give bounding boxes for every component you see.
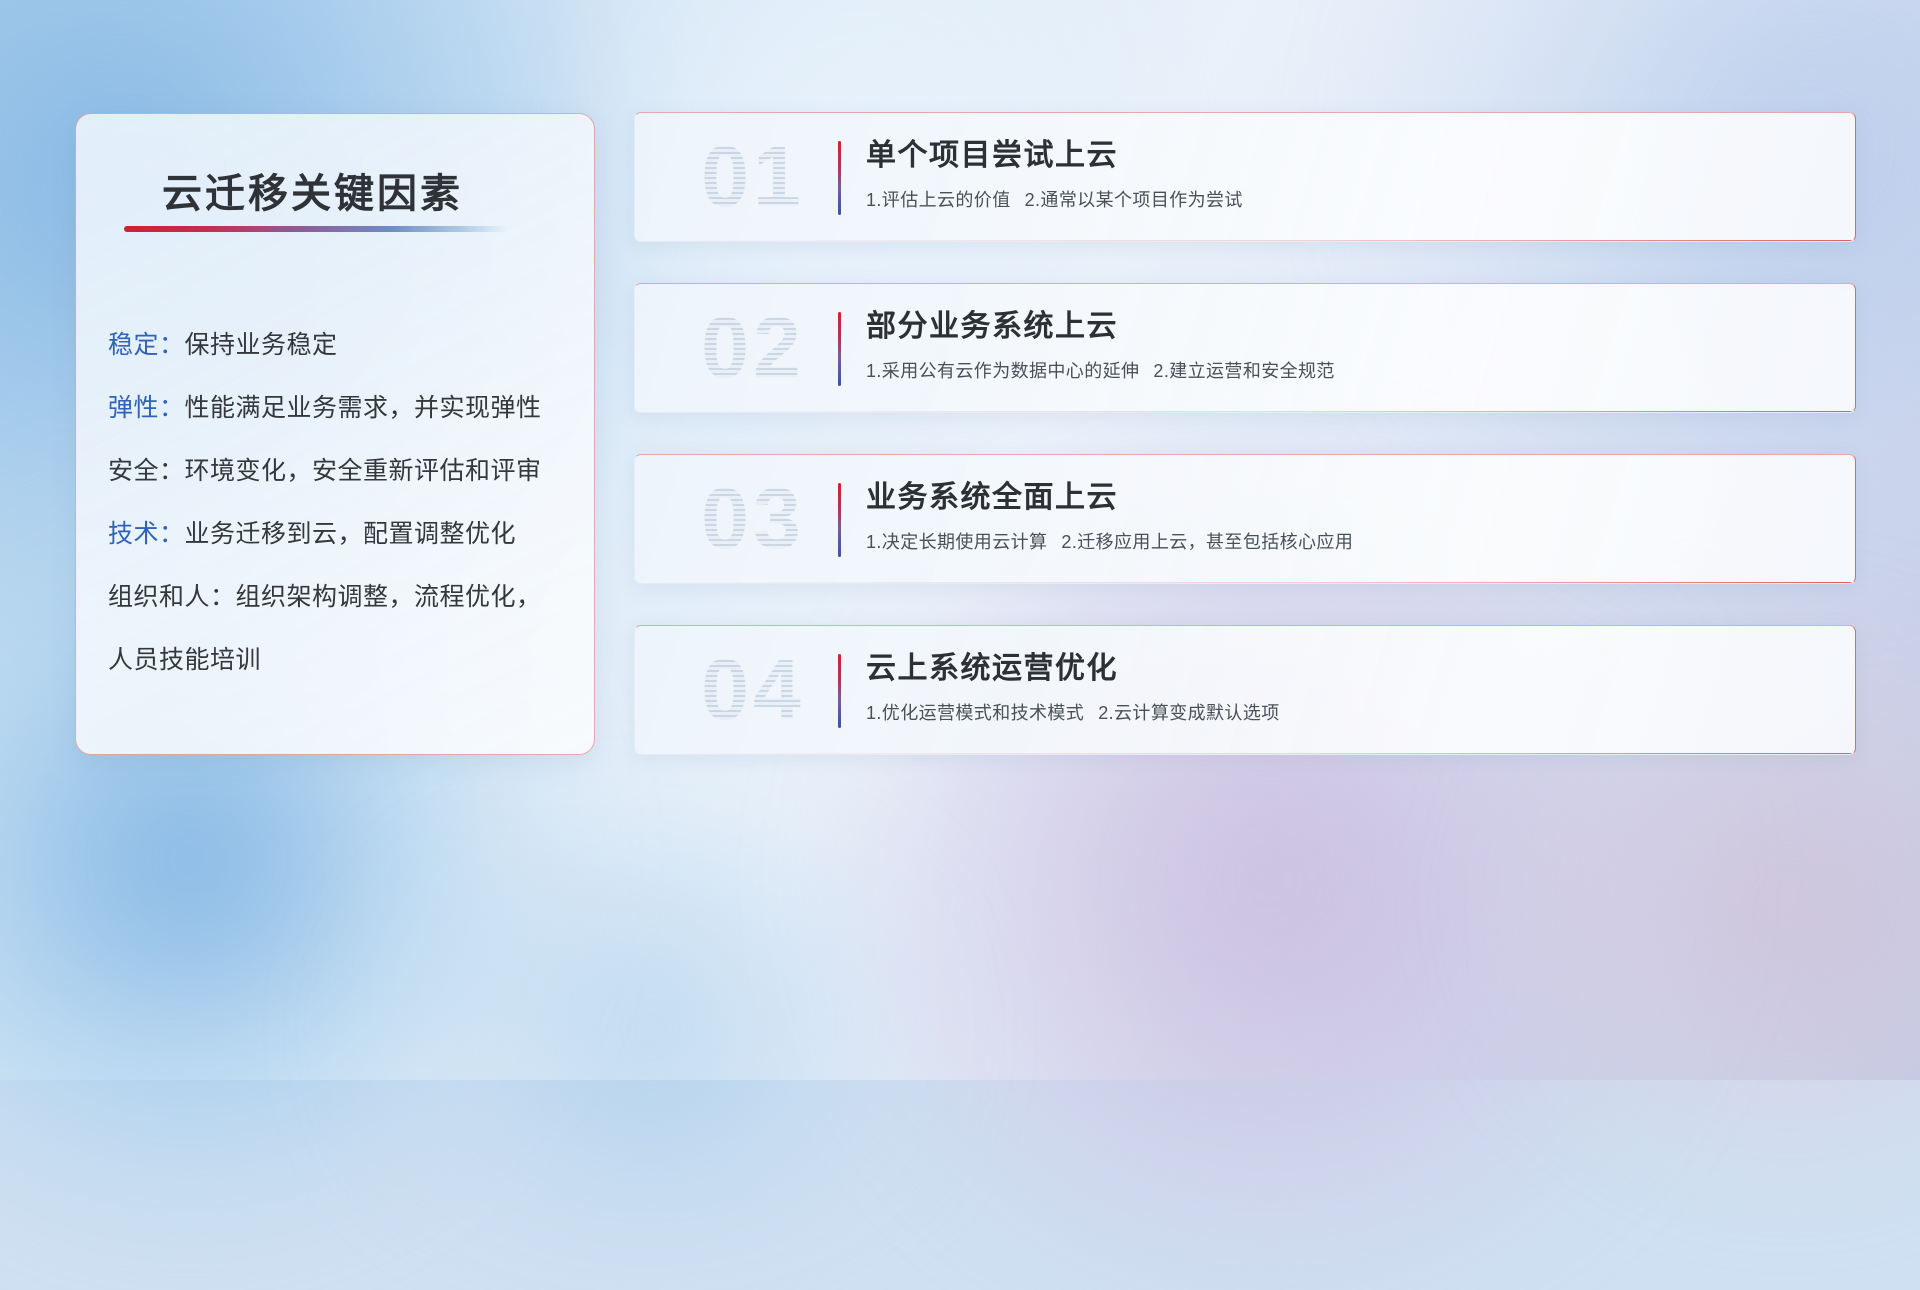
list-item-text: 环境变化，安全重新评估和评审 — [185, 457, 542, 485]
accent-bar — [838, 141, 841, 215]
stage-point: 1.评估上云的价值 — [866, 190, 1011, 210]
stage-card-03[interactable]: 03 业务系统全面上云 1.决定长期使用云计算2.迁移应用上云，甚至包括核心应用 — [634, 454, 1856, 584]
accent-bar — [838, 654, 841, 728]
page-title: 云迁移关键因素 — [162, 161, 463, 219]
stage-card-04[interactable]: 04 云上系统运营优化 1.优化运营模式和技术模式2.云计算变成默认选项 — [634, 625, 1856, 755]
stage-point: 2.通常以某个项目作为尝试 — [1025, 190, 1243, 210]
key-factors-list: 稳定：保持业务稳定 弹性：性能满足业务需求，并实现弹性 安全：环境变化，安全重新… — [108, 314, 578, 692]
list-item: 组织和人：组织架构调整，流程优化， — [108, 566, 578, 629]
stage-title: 单个项目尝试上云 — [866, 133, 1829, 179]
accent-bar — [838, 483, 841, 557]
stage-point: 2.建立运营和安全规范 — [1153, 361, 1334, 381]
stage-point: 2.云计算变成默认选项 — [1098, 703, 1279, 723]
stage-number-ghost: 03 — [673, 469, 833, 569]
stage-number-ghost: 04 — [673, 640, 833, 740]
stage-description: 1.优化运营模式和技术模式2.云计算变成默认选项 — [866, 696, 1829, 730]
stage-description: 1.采用公有云作为数据中心的延伸2.建立运营和安全规范 — [866, 354, 1829, 388]
stage-title: 部分业务系统上云 — [866, 304, 1829, 350]
stage-card-02[interactable]: 02 部分业务系统上云 1.采用公有云作为数据中心的延伸2.建立运营和安全规范 — [634, 283, 1856, 413]
list-item: 人员技能培训 — [108, 629, 578, 692]
title-underline-accent — [124, 226, 508, 232]
slide-stage: 云迁移关键因素 稳定：保持业务稳定 弹性：性能满足业务需求，并实现弹性 安全：环… — [0, 0, 1920, 1080]
list-item-label: 安全： — [108, 457, 185, 485]
list-item: 弹性：性能满足业务需求，并实现弹性 — [108, 377, 578, 440]
list-item: 技术：业务迁移到云，配置调整优化 — [108, 503, 578, 566]
list-item-text: 人员技能培训 — [108, 646, 261, 674]
list-item-text: 性能满足业务需求，并实现弹性 — [185, 394, 542, 422]
stage-description: 1.决定长期使用云计算2.迁移应用上云，甚至包括核心应用 — [866, 525, 1829, 559]
stage-number-ghost: 01 — [673, 127, 833, 227]
stage-card-list: 01 单个项目尝试上云 1.评估上云的价值2.通常以某个项目作为尝试 02 部分… — [634, 112, 1856, 796]
stage-point: 1.优化运营模式和技术模式 — [866, 703, 1084, 723]
list-item-label: 稳定： — [108, 331, 185, 359]
list-item: 稳定：保持业务稳定 — [108, 314, 578, 377]
stage-point: 2.迁移应用上云，甚至包括核心应用 — [1061, 532, 1353, 552]
stage-title: 云上系统运营优化 — [866, 646, 1829, 692]
stage-description: 1.评估上云的价值2.通常以某个项目作为尝试 — [866, 183, 1829, 217]
stage-card-01[interactable]: 01 单个项目尝试上云 1.评估上云的价值2.通常以某个项目作为尝试 — [634, 112, 1856, 242]
accent-bar — [838, 312, 841, 386]
list-item-label: 组织和人： — [108, 583, 236, 611]
list-item-label: 弹性： — [108, 394, 185, 422]
stage-point: 1.采用公有云作为数据中心的延伸 — [866, 361, 1139, 381]
list-item-text: 保持业务稳定 — [185, 331, 338, 359]
key-factors-panel: 云迁移关键因素 稳定：保持业务稳定 弹性：性能满足业务需求，并实现弹性 安全：环… — [75, 113, 595, 755]
list-item-label: 技术： — [108, 520, 185, 548]
list-item: 安全：环境变化，安全重新评估和评审 — [108, 440, 578, 503]
list-item-text: 业务迁移到云，配置调整优化 — [185, 520, 517, 548]
stage-title: 业务系统全面上云 — [866, 475, 1829, 521]
list-item-text: 组织架构调整，流程优化， — [236, 583, 542, 611]
stage-number-ghost: 02 — [673, 298, 833, 398]
stage-point: 1.决定长期使用云计算 — [866, 532, 1047, 552]
